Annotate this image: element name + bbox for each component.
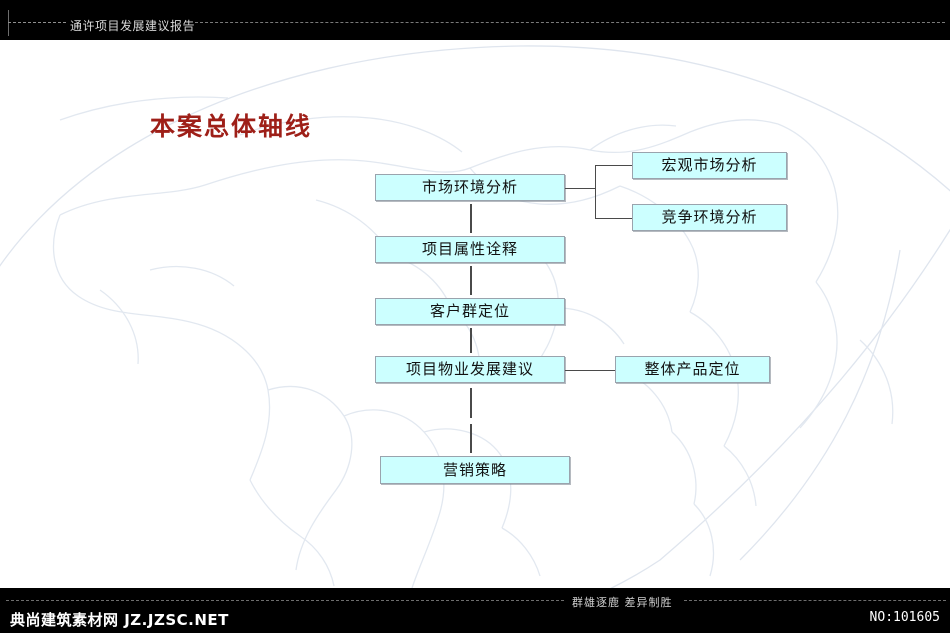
- document-number: NO:101605: [870, 610, 940, 625]
- flow-node-label: 项目属性诠释: [422, 242, 518, 257]
- flow-node-label: 竞争环境分析: [661, 210, 757, 225]
- flowchart: 市场环境分析 宏观市场分析 竞争环境分析 项目属性诠释 客户群定位 项目物业发展…: [0, 0, 950, 633]
- connector-property-to-product: [565, 370, 615, 371]
- header-dashed-rule-right: [195, 22, 945, 23]
- connector-branch-to-macro: [595, 165, 632, 166]
- connector-attr-to-customer: [470, 266, 472, 295]
- connector-branch-spine: [595, 165, 596, 218]
- connector-market-to-branch: [565, 188, 595, 189]
- flow-node-label: 营销策略: [443, 463, 507, 478]
- connector-property-to-gap: [470, 388, 472, 418]
- connector-branch-to-competition: [595, 218, 632, 219]
- connector-market-to-attr: [470, 204, 472, 233]
- footer-dashed-rule-left: [6, 600, 564, 601]
- flow-node-label: 市场环境分析: [422, 180, 518, 195]
- flow-node-label: 整体产品定位: [644, 362, 740, 377]
- flow-node-property-development[interactable]: 项目物业发展建议: [375, 356, 565, 383]
- slide-canvas: 通许项目发展建议报告 本案总体轴线 市场环境分析 宏观市场分析 竞争环境分析 项…: [0, 0, 950, 633]
- page-title: 本案总体轴线: [150, 107, 312, 143]
- site-watermark: 典尚建筑素材网 JZ.JZSC.NET: [10, 609, 229, 630]
- report-title: 通许项目发展建议报告: [70, 17, 195, 34]
- flow-node-label: 宏观市场分析: [661, 158, 757, 173]
- flow-node-customer-segment[interactable]: 客户群定位: [375, 298, 565, 325]
- connector-customer-to-property: [470, 328, 472, 353]
- flow-node-macro-market[interactable]: 宏观市场分析: [632, 152, 787, 179]
- connector-gap-to-marketing: [470, 424, 472, 453]
- footer-bar: 群雄逐鹿 差异制胜 典尚建筑素材网 JZ.JZSC.NET NO:101605: [0, 588, 950, 633]
- footer-dashed-rule-right: [684, 600, 946, 601]
- flow-node-marketing-strategy[interactable]: 营销策略: [380, 456, 570, 484]
- flow-node-project-attr[interactable]: 项目属性诠释: [375, 236, 565, 263]
- header-left-tick: [8, 10, 9, 36]
- flow-node-label: 客户群定位: [430, 304, 510, 319]
- flow-node-competition-env[interactable]: 竞争环境分析: [632, 204, 787, 231]
- footer-slogan: 群雄逐鹿 差异制胜: [572, 594, 673, 610]
- flow-node-product-positioning[interactable]: 整体产品定位: [615, 356, 770, 383]
- header-dashed-rule-left: [8, 22, 66, 23]
- header-bar: 通许项目发展建议报告: [0, 0, 950, 40]
- flow-node-label: 项目物业发展建议: [406, 362, 534, 377]
- flow-node-market-env[interactable]: 市场环境分析: [375, 174, 565, 201]
